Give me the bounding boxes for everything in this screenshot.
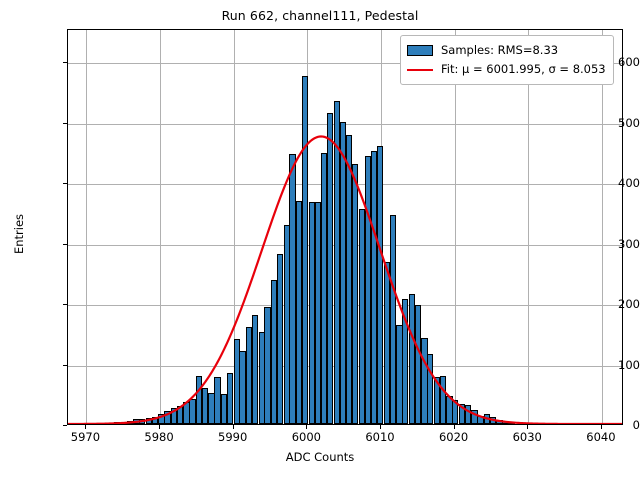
x-tick-label: 5990 (218, 430, 247, 444)
histogram-bar (227, 373, 233, 424)
histogram-bar (302, 76, 308, 424)
legend-label-samples: Samples: RMS=8.33 (441, 45, 558, 57)
histogram-bar (440, 376, 446, 424)
y-tick-label: 100 (600, 358, 640, 372)
histogram-bar (477, 416, 483, 424)
histogram-bar (264, 307, 270, 424)
legend-item-samples: Samples: RMS=8.33 (407, 41, 606, 60)
y-tick-label: 300 (600, 237, 640, 251)
histogram-bars (68, 30, 622, 424)
y-tick-label: 500 (600, 116, 640, 130)
x-tick-label: 6000 (292, 430, 321, 444)
y-tick-mark (63, 123, 67, 124)
y-axis-label: Entries (12, 174, 26, 294)
histogram-bar (509, 422, 515, 424)
legend: Samples: RMS=8.33 Fit: μ = 6001.995, σ =… (400, 35, 614, 85)
histogram-bar (277, 254, 283, 424)
y-tick-mark (63, 62, 67, 63)
y-tick-mark (63, 365, 67, 366)
x-tick-mark (159, 425, 160, 429)
histogram-figure: Run 662, channel111, Pedestal 5970598059… (0, 0, 640, 480)
histogram-bar (465, 405, 471, 424)
histogram-bar (352, 164, 358, 424)
histogram-bar (402, 299, 408, 424)
y-tick-label: 200 (600, 297, 640, 311)
histogram-bar (139, 419, 145, 424)
legend-patch-icon (407, 45, 433, 56)
x-tick-label: 6010 (365, 430, 394, 444)
y-tick-label: 0 (600, 418, 640, 432)
histogram-bar (114, 422, 120, 424)
histogram-bar (239, 351, 245, 424)
y-tick-mark (63, 304, 67, 305)
histogram-bar (152, 417, 158, 424)
y-tick-mark (63, 425, 67, 426)
x-axis-label: ADC Counts (0, 450, 640, 464)
page-title: Run 662, channel111, Pedestal (0, 8, 640, 23)
legend-line-icon (407, 69, 433, 71)
x-tick-mark (380, 425, 381, 429)
x-tick-mark (454, 425, 455, 429)
histogram-bar (164, 411, 170, 424)
histogram-bar (340, 122, 346, 424)
x-tick-label: 5970 (71, 430, 100, 444)
x-tick-label: 6020 (439, 430, 468, 444)
legend-item-fit: Fit: μ = 6001.995, σ = 8.053 (407, 60, 606, 79)
histogram-bar (327, 113, 333, 424)
y-tick-label: 400 (600, 176, 640, 190)
histogram-bar (377, 146, 383, 424)
histogram-bar (502, 421, 508, 424)
x-tick-mark (306, 425, 307, 429)
y-tick-mark (63, 244, 67, 245)
x-tick-label: 5980 (144, 430, 173, 444)
histogram-bar (365, 156, 371, 424)
histogram-bar (315, 202, 321, 424)
plot-area (67, 29, 623, 425)
y-tick-mark (63, 183, 67, 184)
histogram-bar (390, 215, 396, 424)
histogram-bar (177, 406, 183, 424)
x-tick-mark (527, 425, 528, 429)
histogram-bar (427, 354, 433, 424)
x-tick-label: 6040 (586, 430, 615, 444)
x-tick-label: 6030 (513, 430, 542, 444)
x-tick-mark (85, 425, 86, 429)
histogram-bar (202, 388, 208, 424)
histogram-bar (452, 400, 458, 424)
x-tick-mark (233, 425, 234, 429)
histogram-bar (415, 305, 421, 424)
histogram-bar (252, 315, 258, 424)
histogram-bar (289, 154, 295, 424)
histogram-bar (214, 377, 220, 424)
histogram-bar (189, 399, 195, 424)
histogram-bar (490, 417, 496, 424)
histogram-bar (127, 421, 133, 424)
legend-label-fit: Fit: μ = 6001.995, σ = 8.053 (441, 64, 606, 76)
